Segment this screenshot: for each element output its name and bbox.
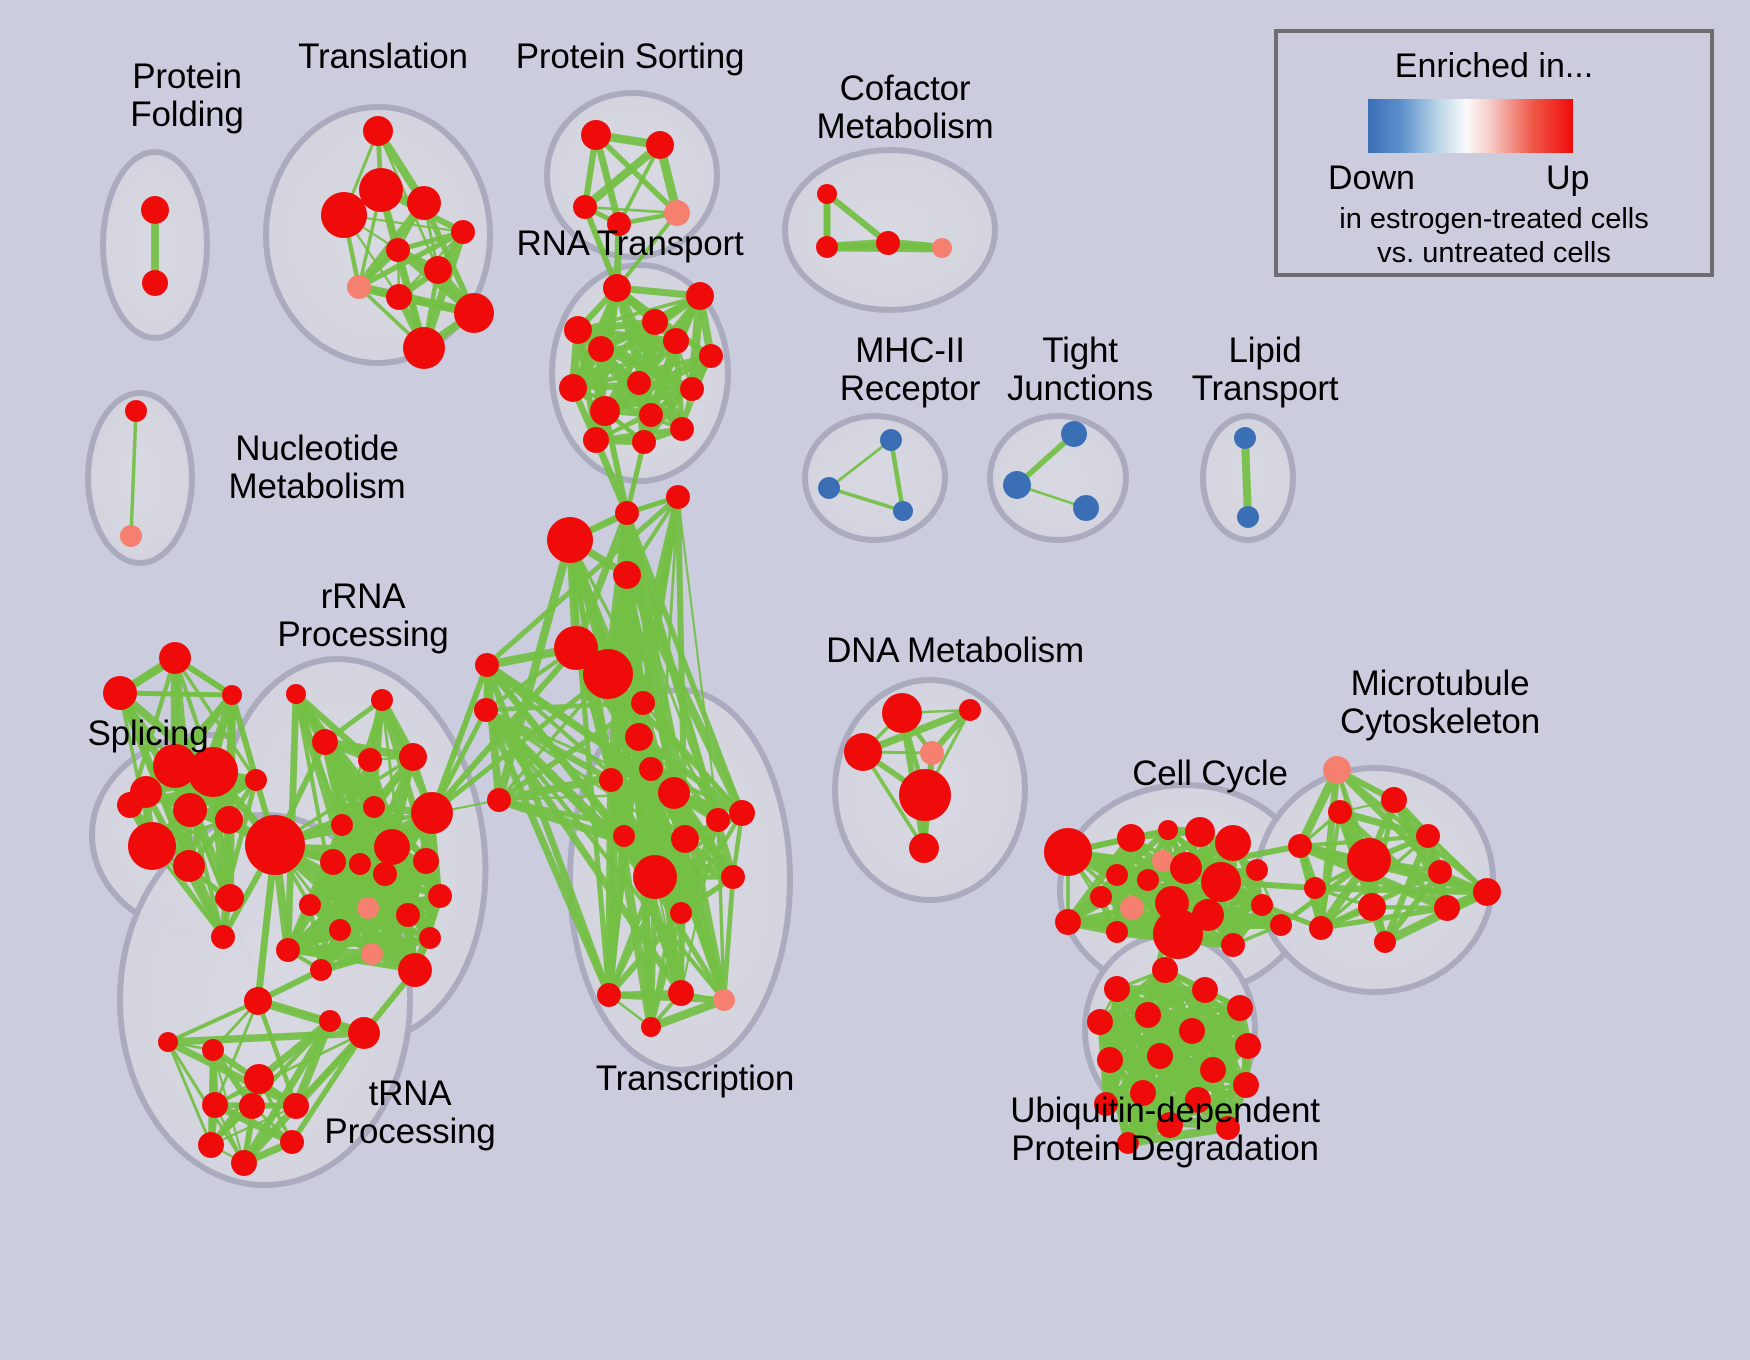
network-node[interactable] <box>615 501 639 525</box>
network-node[interactable] <box>1235 1033 1261 1059</box>
network-node[interactable] <box>686 282 714 310</box>
network-node[interactable] <box>909 833 939 863</box>
network-node[interactable] <box>1347 838 1391 882</box>
network-node[interactable] <box>559 374 587 402</box>
legend-subtitle-line1: in estrogen-treated cells <box>1278 203 1710 236</box>
network-node[interactable] <box>348 1017 380 1049</box>
network-node[interactable] <box>198 1132 224 1158</box>
network-node[interactable] <box>1135 1002 1161 1028</box>
network-node[interactable] <box>413 848 439 874</box>
network-node[interactable] <box>299 894 321 916</box>
network-node[interactable] <box>141 196 169 224</box>
network-node[interactable] <box>1288 834 1312 858</box>
network-node[interactable] <box>1179 1018 1205 1044</box>
network-node[interactable] <box>882 693 922 733</box>
network-node[interactable] <box>1328 800 1352 824</box>
network-node[interactable] <box>454 293 494 333</box>
network-node[interactable] <box>631 691 655 715</box>
network-node[interactable] <box>706 808 730 832</box>
network-node[interactable] <box>817 184 837 204</box>
network-node[interactable] <box>639 403 663 427</box>
network-node[interactable] <box>729 800 755 826</box>
network-node[interactable] <box>1381 787 1407 813</box>
network-node[interactable] <box>1003 471 1031 499</box>
network-diagram-canvas: Protein FoldingTranslationNucleotide Met… <box>0 0 1750 1360</box>
cluster-ellipse-cofactor-metabolism <box>785 150 995 310</box>
network-node[interactable] <box>680 377 704 401</box>
network-node[interactable] <box>573 195 597 219</box>
network-edge <box>1245 438 1248 517</box>
network-node[interactable] <box>1137 869 1159 891</box>
network-node[interactable] <box>329 919 351 941</box>
network-node[interactable] <box>597 983 621 1007</box>
network-node[interactable] <box>1201 862 1241 902</box>
network-node[interactable] <box>403 327 445 369</box>
network-node[interactable] <box>286 684 306 704</box>
network-node[interactable] <box>319 1010 341 1032</box>
cluster-label-lipid-transport: Lipid Transport <box>1160 332 1370 408</box>
network-node[interactable] <box>1234 427 1256 449</box>
network-node[interactable] <box>1061 421 1087 447</box>
network-node[interactable] <box>188 747 238 797</box>
network-node[interactable] <box>357 897 379 919</box>
network-node[interactable] <box>1087 1009 1113 1035</box>
network-node[interactable] <box>128 822 176 870</box>
network-node[interactable] <box>312 729 338 755</box>
network-node[interactable] <box>613 561 641 589</box>
legend-box: Enriched in... Down Up in estrogen-treat… <box>1274 29 1714 277</box>
network-node[interactable] <box>396 903 420 927</box>
network-node[interactable] <box>1158 820 1178 840</box>
legend-title: Enriched in... <box>1278 47 1710 86</box>
cluster-label-cell-cycle: Cell Cycle <box>1105 755 1315 793</box>
network-node[interactable] <box>125 400 147 422</box>
network-node[interactable] <box>721 865 745 889</box>
network-node[interactable] <box>1192 977 1218 1003</box>
network-node[interactable] <box>276 938 300 962</box>
network-node[interactable] <box>564 316 592 344</box>
network-node[interactable] <box>671 825 699 853</box>
network-node[interactable] <box>666 485 690 509</box>
network-node[interactable] <box>1434 895 1460 921</box>
network-node[interactable] <box>359 168 403 212</box>
network-node[interactable] <box>713 989 735 1011</box>
network-node[interactable] <box>1416 824 1440 848</box>
network-node[interactable] <box>844 733 882 771</box>
network-node[interactable] <box>374 829 410 865</box>
network-node[interactable] <box>239 1093 265 1119</box>
network-node[interactable] <box>1120 896 1144 920</box>
network-node[interactable] <box>1309 916 1333 940</box>
network-node[interactable] <box>1170 852 1202 884</box>
network-node[interactable] <box>641 1017 661 1037</box>
network-node[interactable] <box>1227 995 1253 1021</box>
network-node[interactable] <box>1428 860 1452 884</box>
network-node[interactable] <box>103 676 137 710</box>
network-node[interactable] <box>310 959 332 981</box>
network-node[interactable] <box>1323 756 1351 784</box>
network-node[interactable] <box>583 427 609 453</box>
network-node[interactable] <box>588 336 614 362</box>
cluster-label-translation: Translation <box>268 38 498 76</box>
network-node[interactable] <box>1473 878 1501 906</box>
network-node[interactable] <box>599 768 623 792</box>
network-node[interactable] <box>899 769 951 821</box>
network-node[interactable] <box>818 477 840 499</box>
cluster-label-protein-sorting: Protein Sorting <box>500 38 760 76</box>
network-node[interactable] <box>349 853 371 875</box>
network-node[interactable] <box>173 850 205 882</box>
network-node[interactable] <box>202 1039 224 1061</box>
network-node[interactable] <box>142 270 168 296</box>
network-node[interactable] <box>244 1064 274 1094</box>
network-node[interactable] <box>1251 894 1273 916</box>
network-node[interactable] <box>120 525 142 547</box>
network-node[interactable] <box>331 814 353 836</box>
network-node[interactable] <box>407 186 441 220</box>
network-node[interactable] <box>1221 933 1245 957</box>
network-node[interactable] <box>399 743 427 771</box>
network-node[interactable] <box>1106 864 1128 886</box>
cluster-label-cofactor-metabolism: Cofactor Metabolism <box>790 70 1020 146</box>
network-node[interactable] <box>424 256 452 284</box>
network-node[interactable] <box>581 120 611 150</box>
network-node[interactable] <box>632 430 656 454</box>
cluster-label-rrna-processing: rRNA Processing <box>248 578 478 654</box>
network-node[interactable] <box>231 1150 257 1176</box>
network-node[interactable] <box>487 788 511 812</box>
network-node[interactable] <box>959 699 981 721</box>
cluster-label-rna-transport: RNA Transport <box>500 225 760 263</box>
network-node[interactable] <box>373 862 397 886</box>
network-node[interactable] <box>1073 495 1099 521</box>
legend-color-bar <box>1368 99 1573 153</box>
cluster-label-trna-processing: tRNA Processing <box>300 1075 520 1151</box>
network-node[interactable] <box>173 793 207 827</box>
network-node[interactable] <box>1153 909 1203 959</box>
network-node[interactable] <box>386 238 410 262</box>
network-node[interactable] <box>633 855 677 899</box>
network-node[interactable] <box>244 987 272 1015</box>
network-node[interactable] <box>625 723 653 751</box>
network-node[interactable] <box>1185 817 1215 847</box>
network-node[interactable] <box>642 309 668 335</box>
network-node[interactable] <box>363 796 385 818</box>
network-node[interactable] <box>590 396 620 426</box>
network-node[interactable] <box>117 792 143 818</box>
network-node[interactable] <box>932 238 952 258</box>
network-node[interactable] <box>1106 921 1128 943</box>
network-node[interactable] <box>159 642 191 674</box>
network-node[interactable] <box>428 884 452 908</box>
network-node[interactable] <box>1152 957 1178 983</box>
network-node[interactable] <box>158 1032 178 1052</box>
legend-low-label: Down <box>1328 159 1415 198</box>
cluster-label-ubiquitin-protein-degradation: Ubiquitin-dependent Protein Degradation <box>990 1092 1340 1168</box>
network-node[interactable] <box>1147 1043 1173 1069</box>
network-node[interactable] <box>386 284 412 310</box>
network-node[interactable] <box>639 757 663 781</box>
legend-high-label: Up <box>1546 159 1589 198</box>
network-node[interactable] <box>658 777 690 809</box>
network-node[interactable] <box>816 236 838 258</box>
network-node[interactable] <box>215 888 235 908</box>
network-node[interactable] <box>1304 877 1326 899</box>
cluster-label-transcription: Transcription <box>575 1060 815 1098</box>
network-node[interactable] <box>398 953 432 987</box>
network-node[interactable] <box>1358 893 1386 921</box>
network-node[interactable] <box>1090 886 1112 908</box>
cluster-label-protein-folding: Protein Folding <box>82 58 292 134</box>
network-node[interactable] <box>202 1092 228 1118</box>
network-node[interactable] <box>347 275 371 299</box>
network-node[interactable] <box>880 429 902 451</box>
network-node[interactable] <box>670 417 694 441</box>
network-node[interactable] <box>211 925 235 949</box>
network-node[interactable] <box>668 980 694 1006</box>
network-node[interactable] <box>1117 824 1145 852</box>
cluster-label-microtubule-cytoskeleton: Microtubule Cytoskeleton <box>1300 665 1580 741</box>
network-node[interactable] <box>1237 506 1259 528</box>
network-node[interactable] <box>699 344 723 368</box>
network-node[interactable] <box>1044 828 1092 876</box>
network-node[interactable] <box>1200 1057 1226 1083</box>
network-node[interactable] <box>245 769 267 791</box>
legend-subtitle-line2: vs. untreated cells <box>1278 237 1710 270</box>
network-node[interactable] <box>670 902 692 924</box>
network-node[interactable] <box>1270 914 1292 936</box>
network-node[interactable] <box>1097 1047 1123 1073</box>
network-node[interactable] <box>1246 859 1268 881</box>
network-node[interactable] <box>583 649 633 699</box>
network-node[interactable] <box>361 943 383 965</box>
cluster-label-splicing: Splicing <box>58 715 238 753</box>
network-node[interactable] <box>475 653 499 677</box>
network-node[interactable] <box>371 689 393 711</box>
cluster-label-nucleotide-metabolism: Nucleotide Metabolism <box>192 430 442 506</box>
network-node[interactable] <box>627 371 651 395</box>
cluster-label-tight-junctions: Tight Junctions <box>975 332 1185 408</box>
network-node[interactable] <box>320 849 346 875</box>
network-node[interactable] <box>920 741 944 765</box>
network-node[interactable] <box>547 517 593 563</box>
network-node[interactable] <box>646 131 674 159</box>
network-node[interactable] <box>893 501 913 521</box>
network-node[interactable] <box>222 685 242 705</box>
cluster-label-dna-metabolism: DNA Metabolism <box>815 632 1095 670</box>
network-node[interactable] <box>363 116 393 146</box>
network-node[interactable] <box>1104 976 1130 1002</box>
network-node[interactable] <box>876 231 900 255</box>
network-node[interactable] <box>663 328 689 354</box>
network-node[interactable] <box>1215 825 1251 861</box>
network-node[interactable] <box>664 200 690 226</box>
network-node[interactable] <box>603 274 631 302</box>
network-node[interactable] <box>451 220 475 244</box>
network-node[interactable] <box>1374 931 1396 953</box>
network-node[interactable] <box>245 815 305 875</box>
network-node[interactable] <box>215 806 243 834</box>
network-node[interactable] <box>358 748 382 772</box>
network-node[interactable] <box>474 698 498 722</box>
network-node[interactable] <box>613 825 635 847</box>
network-node[interactable] <box>1055 909 1081 935</box>
network-node[interactable] <box>411 792 453 834</box>
network-node[interactable] <box>321 192 367 238</box>
network-node[interactable] <box>419 927 441 949</box>
